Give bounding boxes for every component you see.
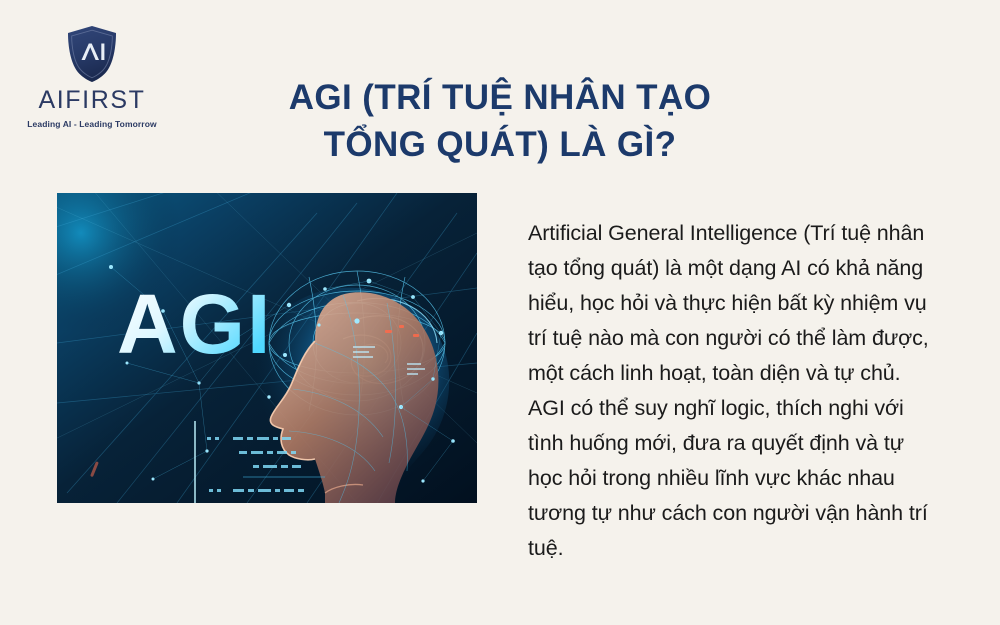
brand-logo: AIFIRST Leading AI - Leading Tomorrow: [22, 24, 162, 129]
shield-ai-monogram-icon: [64, 24, 120, 84]
agi-overlay-text: AGI: [117, 277, 272, 371]
brand-tagline: Leading AI - Leading Tomorrow: [22, 120, 162, 129]
page-title: AGI (TRÍ TUỆ NHÂN TẠO TỔNG QUÁT) LÀ GÌ?: [210, 75, 790, 167]
brand-wordmark: AIFIRST: [22, 88, 162, 113]
agi-illustration: AGI: [57, 193, 477, 503]
slide-canvas: AIFIRST Leading AI - Leading Tomorrow AG…: [0, 0, 1000, 625]
body-paragraph: Artificial General Intelligence (Trí tuệ…: [528, 216, 940, 566]
page-title-line-2: TỔNG QUÁT) LÀ GÌ?: [210, 122, 790, 168]
page-title-line-1: AGI (TRÍ TUỆ NHÂN TẠO: [210, 75, 790, 121]
